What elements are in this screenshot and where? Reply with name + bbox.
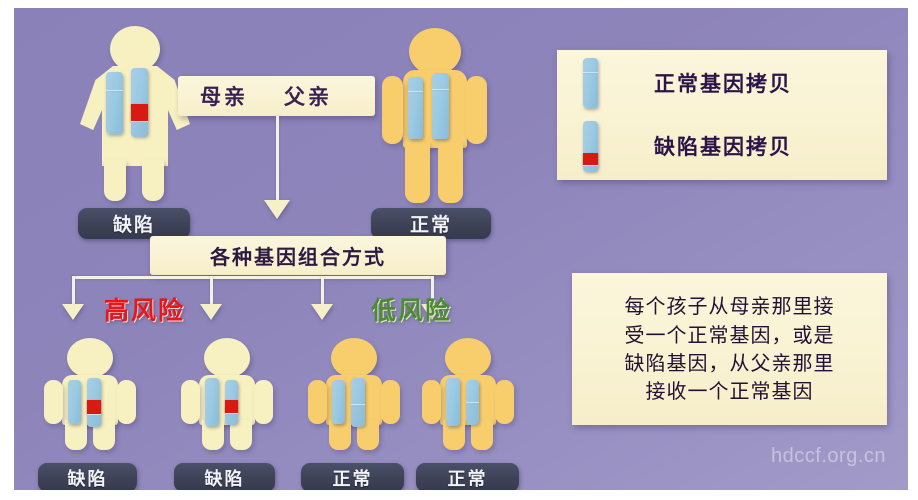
- branch-line-child-2: [210, 276, 213, 306]
- child-2-chromosome-defective: [225, 380, 238, 424]
- child-4-arm-right: [495, 380, 514, 424]
- arrow-child-2: [200, 304, 222, 320]
- child-figure-4: [418, 338, 518, 450]
- child-2-status-label: 缺陷: [205, 465, 245, 491]
- legend-normal-label: 正常基因拷贝: [654, 68, 792, 98]
- defect-band: [131, 104, 148, 121]
- father-status-badge: 正常: [371, 208, 491, 239]
- father-leg-right: [438, 142, 463, 203]
- legend-panel: 正常基因拷贝 缺陷基因拷贝: [557, 50, 887, 180]
- gene-combination-label: 各种基因组合方式: [210, 241, 386, 270]
- mother-head: [110, 26, 160, 72]
- mother-figure: [76, 26, 194, 201]
- note-line-1: 每个孩子从母亲那里接: [625, 292, 835, 320]
- parents-to-combine-arrow: [264, 200, 290, 219]
- child-3-arm-right: [381, 380, 400, 424]
- father-leg-left: [405, 142, 430, 203]
- child-3-status-label: 正常: [333, 465, 373, 491]
- branch-line-child-3: [321, 276, 324, 306]
- child-3-chromosome-normal-1: [332, 380, 345, 424]
- child-figure-1: [40, 338, 140, 450]
- child-3-status-badge: 正常: [301, 463, 404, 490]
- legend-normal-chromosome-icon: [583, 58, 598, 108]
- mother-status-label: 缺陷: [113, 210, 155, 237]
- branch-line-child-1: [72, 276, 75, 306]
- legend-defective-label: 缺陷基因拷贝: [654, 131, 792, 161]
- mother-label: 母亲: [200, 81, 248, 111]
- arrow-child-1: [62, 304, 84, 320]
- parents-label-bar: 母亲 父亲: [178, 76, 375, 116]
- legend-row-normal: 正常基因拷贝: [557, 50, 887, 115]
- child-1-arm-right: [117, 380, 136, 424]
- screenshot-root: 缺陷 正常 母亲 父亲 各种: [0, 0, 918, 500]
- child-3-chromosome-normal-2: [351, 378, 365, 426]
- legend-defective-chromosome-icon: [583, 121, 598, 171]
- child-4-head: [445, 338, 491, 378]
- child-1-chromosome-defective: [87, 378, 101, 426]
- father-label: 父亲: [284, 81, 332, 111]
- genetics-inheritance-diagram: 缺陷 正常 母亲 父亲 各种: [14, 8, 908, 490]
- child-1-status-badge: 缺陷: [38, 463, 137, 490]
- father-status-label: 正常: [410, 210, 452, 237]
- defect-band: [583, 153, 598, 165]
- chromosome-segment: [87, 414, 101, 427]
- child-1-arm-left: [44, 380, 63, 424]
- legend-row-defective: 缺陷基因拷贝: [557, 113, 887, 178]
- mother-status-badge: 缺陷: [78, 208, 190, 239]
- father-figure: [376, 28, 494, 203]
- child-4-arm-left: [422, 380, 441, 424]
- explanation-note-text: 每个孩子从母亲那里接 受一个正常基因，或是 缺陷基因，从父亲那里 接收一个正常基…: [625, 292, 835, 406]
- child-figure-3: [304, 338, 404, 450]
- child-3-head: [331, 338, 377, 378]
- chromosome-segment: [432, 89, 449, 91]
- mother-leg-right: [142, 160, 164, 201]
- child-2-arm-right: [254, 380, 273, 424]
- chromosome-segment: [583, 72, 598, 74]
- child-1-head: [67, 338, 113, 378]
- child-2-head: [204, 338, 250, 378]
- defect-band: [225, 400, 238, 413]
- explanation-note-panel: 每个孩子从母亲那里接 受一个正常基因，或是 缺陷基因，从父亲那里 接收一个正常基…: [572, 273, 887, 425]
- child-1-chromosome-normal: [68, 380, 81, 424]
- child-2-chromosome-normal: [205, 378, 219, 426]
- site-watermark: hdccf.org.cn: [771, 445, 886, 468]
- father-head: [409, 28, 461, 75]
- mother-chromosome-normal: [106, 72, 123, 134]
- child-figure-2: [177, 338, 277, 450]
- chromosome-segment: [351, 404, 365, 427]
- child-4-status-badge: 正常: [416, 463, 519, 490]
- branch-horizontal-line: [72, 276, 434, 279]
- arrow-child-3: [311, 304, 333, 320]
- child-2-status-badge: 缺陷: [174, 463, 275, 490]
- child-4-chromosome-normal-1: [446, 378, 460, 426]
- father-arm-right: [466, 76, 487, 144]
- child-1-leg-left: [65, 420, 87, 450]
- chromosome-segment: [466, 402, 479, 425]
- chromosome-segment: [106, 90, 123, 92]
- chromosome-segment: [225, 413, 238, 425]
- father-arm-left: [382, 76, 403, 144]
- father-chromosome-normal-1: [408, 77, 423, 139]
- child-4-status-label: 正常: [448, 465, 488, 491]
- chromosome-segment: [131, 121, 148, 137]
- child-3-leg-left: [329, 420, 351, 450]
- note-line-2: 受一个正常基因，或是: [625, 321, 835, 349]
- chromosome-segment: [583, 165, 598, 172]
- mother-chromosome-defective: [131, 68, 148, 136]
- note-line-3: 缺陷基因，从父亲那里: [625, 349, 835, 377]
- chromosome-segment: [408, 91, 423, 93]
- child-1-status-label: 缺陷: [68, 465, 108, 491]
- note-line-4: 接收一个正常基因: [625, 377, 835, 405]
- defect-band: [87, 400, 101, 414]
- mother-leg-left: [104, 160, 126, 201]
- high-risk-label: 高风险: [104, 291, 185, 327]
- child-2-arm-left: [181, 380, 200, 424]
- gene-combination-box: 各种基因组合方式: [150, 236, 446, 275]
- father-chromosome-normal-2: [432, 73, 449, 139]
- child-3-arm-left: [308, 380, 327, 424]
- parents-to-combine-line: [276, 116, 279, 202]
- low-risk-label: 低风险: [371, 291, 452, 327]
- child-4-chromosome-normal-2: [466, 380, 479, 424]
